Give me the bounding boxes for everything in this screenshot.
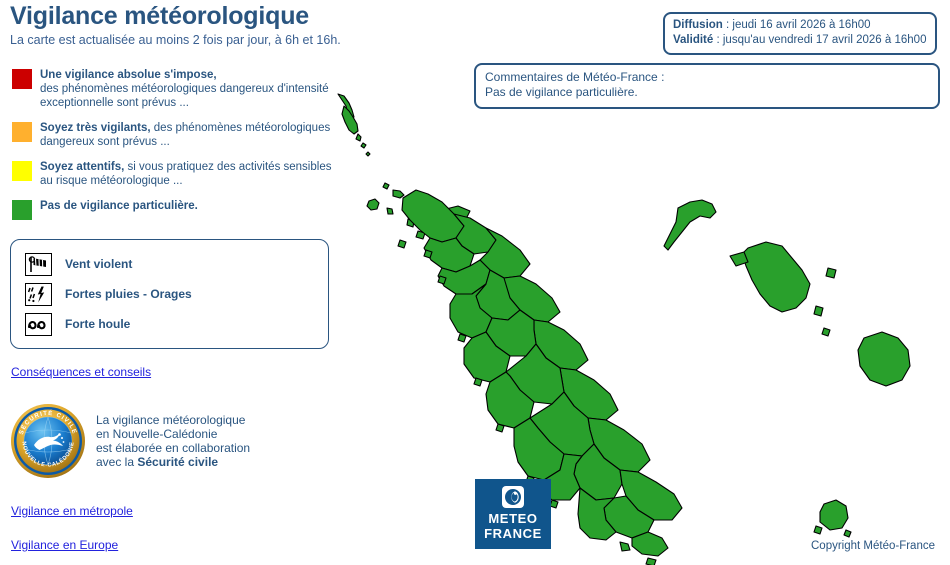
reef-fragment-6 — [398, 240, 406, 248]
phenomenon-rain-storm: Fortes pluies - Orages — [11, 279, 328, 309]
reef-fragment-1 — [383, 183, 389, 189]
diffusion-validity-box: Diffusion : jeudi 16 avril 2026 à 16h00 … — [663, 12, 937, 55]
securite-civile-block: SÉCURITÉ CIVILE NOUVELLE-CALÉDONIE La vi… — [10, 403, 330, 479]
validity-line: Validité : jusqu'au vendredi 17 avril 20… — [673, 33, 927, 48]
green-level-swatch — [12, 200, 32, 220]
island-isle-of-pines — [820, 500, 848, 530]
securite-civile-line4-prefix: avec la — [96, 455, 137, 469]
link-consequences-et-conseils[interactable]: Conséquences et conseils — [11, 365, 151, 379]
diffusion-label: Diffusion — [673, 19, 723, 31]
securite-civile-text: La vigilance météorologique en Nouvelle-… — [96, 403, 250, 469]
phenomenon-rain-storm-label: Fortes pluies - Orages — [65, 287, 192, 301]
legend-level-orange-text: Soyez très vigilants, des phénomènes mét… — [40, 121, 332, 149]
legend-level-green-bold: Pas de vigilance particulière. — [40, 200, 198, 212]
island-yande — [367, 199, 379, 210]
reef-fragment-3 — [387, 208, 393, 214]
securite-civile-line4-bold: Sécurité civile — [137, 455, 218, 469]
meteo-france-wordmark: METEO FRANCE — [475, 511, 551, 541]
legend-level-yellow: Soyez attentifs, si vous pratiquez des a… — [12, 160, 332, 188]
phenomenon-waves: Forte houle — [11, 309, 328, 339]
commune-southern-tip — [632, 532, 668, 556]
legend-level-orange: Soyez très vigilants, des phénomènes mét… — [12, 121, 332, 149]
meteo-france-logo: METEO FRANCE — [475, 479, 551, 549]
phenomenon-wind: Vent violent — [11, 249, 328, 279]
new-caledonia-vigilance-map[interactable] — [330, 90, 950, 565]
vigilance-levels-legend: Une vigilance absolue s'impose, des phén… — [12, 68, 332, 231]
securite-civile-line3: est élaborée en collaboration — [96, 441, 250, 455]
islet-loyalty-3 — [822, 328, 830, 336]
phenomenon-waves-label: Forte houle — [65, 317, 130, 331]
commune-poum — [402, 190, 464, 242]
diffusion-value: : jeudi 16 avril 2026 à 16h00 — [723, 19, 871, 31]
securite-civile-line4: avec la Sécurité civile — [96, 455, 250, 469]
legend-level-green-text: Pas de vigilance particulière. — [40, 199, 198, 213]
page-subtitle: La carte est actualisée au moins 2 fois … — [10, 33, 341, 47]
islet-west-4 — [474, 378, 482, 386]
copyright-notice: Copyright Météo-France — [811, 540, 935, 552]
islet-west-5 — [496, 424, 504, 432]
rain-thunderstorm-icon — [25, 283, 52, 306]
reef-fragment-2 — [393, 190, 404, 198]
page-title: Vigilance météorologique — [10, 2, 309, 31]
island-belep-small1 — [356, 134, 361, 141]
legend-level-orange-bold: Soyez très vigilants, — [40, 122, 151, 134]
legend-level-yellow-bold: Soyez attentifs, — [40, 161, 124, 173]
vigilance-page: Vigilance météorologique La carte est ac… — [0, 0, 950, 565]
island-lifou — [742, 242, 810, 312]
islet-south-1 — [620, 542, 630, 551]
link-vigilance-europe[interactable]: Vigilance en Europe — [11, 538, 118, 552]
red-level-swatch — [12, 69, 32, 89]
validity-label: Validité — [673, 34, 713, 46]
phenomena-legend-box: Vent violent Fortes pluies - Orages — [10, 239, 329, 349]
islet-loyalty-2 — [814, 306, 823, 316]
islet-loyalty-1 — [826, 268, 836, 278]
legend-level-yellow-text: Soyez attentifs, si vous pratiquez des a… — [40, 160, 332, 188]
island-belep-dot2 — [366, 152, 370, 156]
legend-level-red-rest: des phénomènes météorologiques dangereux… — [40, 83, 329, 109]
high-waves-icon — [25, 313, 52, 336]
islet-west-2 — [438, 276, 446, 284]
meteo-france-line2: FRANCE — [475, 526, 551, 541]
yellow-level-swatch — [12, 161, 32, 181]
securite-civile-logo: SÉCURITÉ CIVILE NOUVELLE-CALÉDONIE — [10, 403, 86, 479]
phenomenon-wind-label: Vent violent — [65, 257, 132, 271]
island-ouvea — [664, 200, 716, 250]
legend-level-red-text: Une vigilance absolue s'impose, des phén… — [40, 68, 332, 110]
comments-title: Commentaires de Météo-France : — [485, 70, 929, 85]
islet-pines-2 — [844, 530, 851, 537]
orange-level-swatch — [12, 122, 32, 142]
meteo-france-mark-icon — [502, 486, 524, 508]
legend-level-green: Pas de vigilance particulière. — [12, 199, 332, 220]
link-vigilance-metropole[interactable]: Vigilance en métropole — [11, 504, 133, 518]
diffusion-line: Diffusion : jeudi 16 avril 2026 à 16h00 — [673, 18, 927, 33]
securite-civile-line2: en Nouvelle-Calédonie — [96, 427, 250, 441]
island-belep-dot1 — [361, 143, 366, 148]
wind-sock-icon — [25, 253, 52, 276]
meteo-france-line1: METEO — [475, 511, 551, 526]
legend-level-red: Une vigilance absolue s'impose, des phén… — [12, 68, 332, 110]
islet-west-1 — [424, 250, 432, 258]
securite-civile-line1: La vigilance météorologique — [96, 413, 250, 427]
validity-value: : jusqu'au vendredi 17 avril 2026 à 16h0… — [713, 34, 926, 46]
islet-west-3 — [458, 334, 466, 342]
islet-pines-1 — [814, 526, 822, 534]
islet-west-7 — [550, 500, 558, 508]
island-mare — [858, 332, 910, 386]
map-islands — [338, 94, 910, 565]
legend-level-red-bold: Une vigilance absolue s'impose, — [40, 69, 217, 81]
islet-south-2 — [646, 558, 656, 565]
